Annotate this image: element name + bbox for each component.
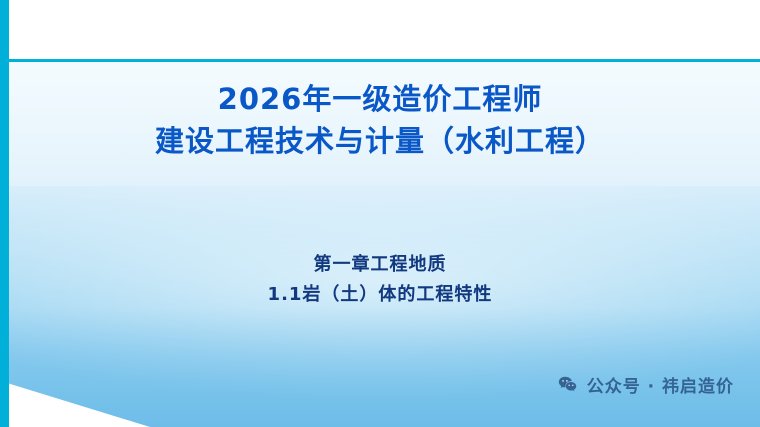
left-accent-bar	[0, 0, 9, 427]
title-line-1: 2026年一级造价工程师	[0, 78, 760, 120]
footer-brand: 公众号 · 祎启造价	[557, 372, 734, 397]
page-title: 2026年一级造价工程师 建设工程技术与计量（水利工程）	[0, 78, 760, 162]
footer-brand-text: 公众号 · 祎启造价	[587, 372, 734, 397]
title-line-2: 建设工程技术与计量（水利工程）	[0, 120, 760, 162]
background-top-strip	[0, 0, 760, 59]
top-divider-line	[0, 59, 760, 62]
presentation-slide: 祎启同行造价通明 2026年一级造价工程师 建设工程技术与计量（水利工程） 第一…	[0, 0, 760, 427]
page-subtitle: 第一章工程地质 1.1岩（土）体的工程特性	[0, 250, 760, 310]
subtitle-line-1: 第一章工程地质	[0, 250, 760, 280]
wechat-icon	[557, 374, 578, 395]
subtitle-line-2: 1.1岩（土）体的工程特性	[0, 280, 760, 310]
